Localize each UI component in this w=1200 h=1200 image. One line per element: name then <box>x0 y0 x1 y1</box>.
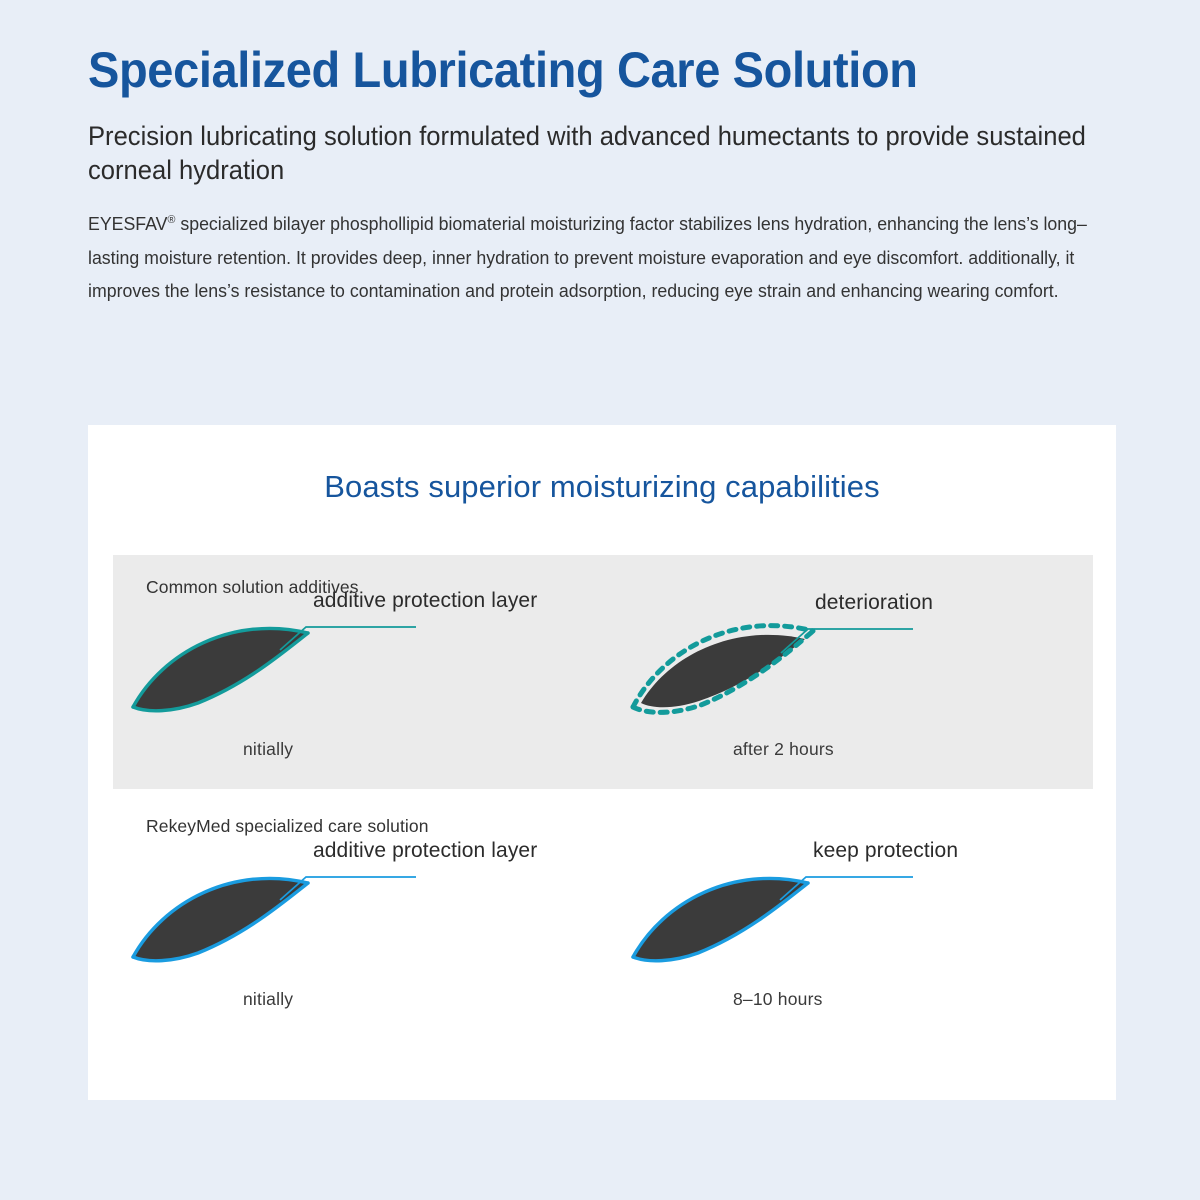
callout-common-initial: additive protection layer <box>313 589 537 613</box>
lens-cell-common-initial: additive protection layer nitially <box>123 597 583 787</box>
callout-rekeymed-after: keep protection <box>813 839 958 863</box>
callout-common-after: deterioration <box>815 591 933 615</box>
body-paragraph: EYESFAV® specialized bilayer phosphollip… <box>88 208 1107 308</box>
caption-common-initial: nitially <box>123 739 293 760</box>
lens-grid-common: additive protection layer nitially deter… <box>113 555 1093 789</box>
brand-name: EYESFAV <box>88 214 168 234</box>
card-heading: Boasts superior moisturizing capabilitie… <box>88 425 1116 505</box>
caption-rekeymed-after: 8–10 hours <box>623 989 823 1010</box>
lens-grid-rekeymed: additive protection layer nitially keep … <box>113 789 1093 1079</box>
caption-rekeymed-initial: nitially <box>123 989 293 1010</box>
lens-diagram-common-after <box>623 597 1083 747</box>
lens-diagram-common-initial <box>123 597 583 747</box>
lens-cell-rekeymed-initial: additive protection layer nitially <box>123 847 583 1037</box>
lens-cell-rekeymed-after: keep protection 8–10 hours <box>623 847 1083 1037</box>
panel-rekeymed-solution: RekeyMed specialized care solution addit… <box>113 789 1093 1079</box>
lens-diagram-rekeymed-initial <box>123 847 583 997</box>
page-subtitle: Precision lubricating solution formulate… <box>88 119 1109 189</box>
comparison-card: Boasts superior moisturizing capabilitie… <box>88 425 1116 1100</box>
page-title: Specialized Lubricating Care Solution <box>88 44 1084 97</box>
body-text: specialized bilayer phosphollipid biomat… <box>88 214 1087 301</box>
caption-common-after: after 2 hours <box>623 739 834 760</box>
lens-diagram-rekeymed-after <box>623 847 1083 997</box>
lens-cell-common-after: deterioration after 2 hours <box>623 597 1083 787</box>
registered-mark: ® <box>168 214 176 226</box>
callout-rekeymed-initial: additive protection layer <box>313 839 537 863</box>
header-block: Specialized Lubricating Care Solution Pr… <box>88 44 1148 308</box>
panel-common-solution: Common solution additives additive prote… <box>113 555 1093 789</box>
